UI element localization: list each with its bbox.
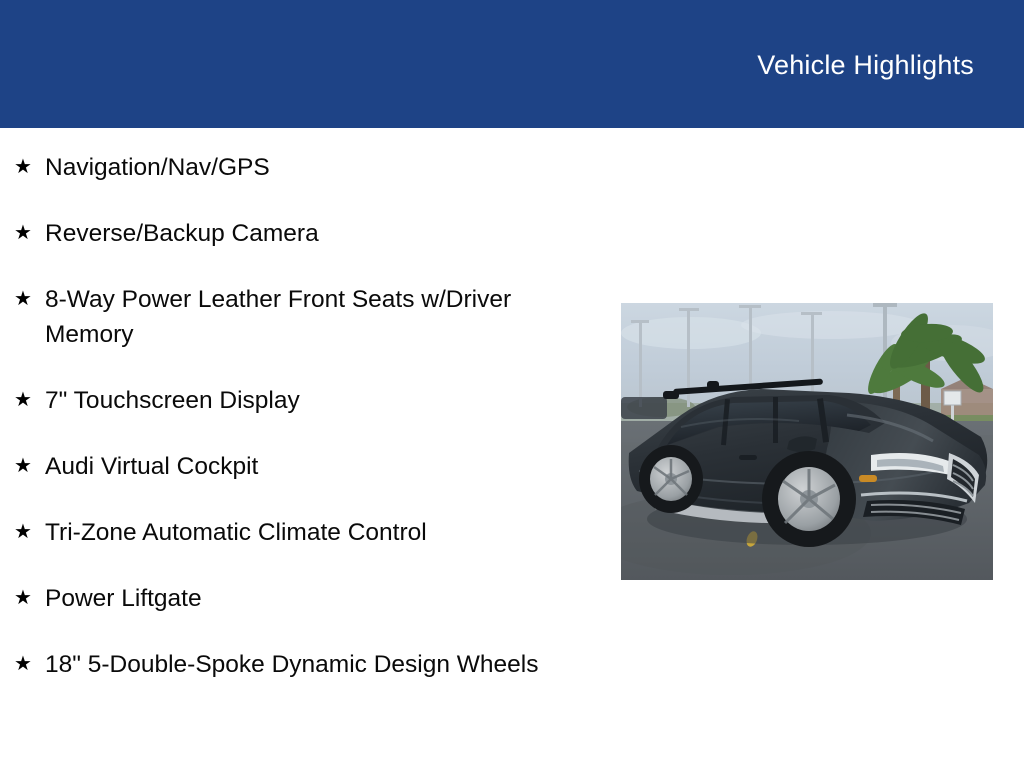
list-item-label: Audi Virtual Cockpit bbox=[45, 449, 545, 484]
page-title: Vehicle Highlights bbox=[757, 50, 974, 81]
list-item: ★ 18" 5-Double-Spoke Dynamic Design Whee… bbox=[0, 647, 600, 682]
vehicle-highlights-list: ★ Navigation/Nav/GPS ★ Reverse/Backup Ca… bbox=[0, 128, 600, 713]
star-bullet-icon: ★ bbox=[14, 647, 45, 681]
list-item-label: 7" Touchscreen Display bbox=[45, 383, 545, 418]
list-item: ★ Audi Virtual Cockpit bbox=[0, 449, 600, 484]
list-item-label: 18" 5-Double-Spoke Dynamic Design Wheels bbox=[45, 647, 545, 682]
star-bullet-icon: ★ bbox=[14, 282, 45, 316]
list-item-label: Navigation/Nav/GPS bbox=[45, 150, 545, 185]
list-item: ★ Tri-Zone Automatic Climate Control bbox=[0, 515, 600, 550]
star-bullet-icon: ★ bbox=[14, 581, 45, 615]
list-item: ★ 7" Touchscreen Display bbox=[0, 383, 600, 418]
list-item: ★ Reverse/Backup Camera bbox=[0, 216, 600, 251]
vehicle-photo bbox=[621, 303, 993, 580]
vehicle-photo-image bbox=[621, 303, 993, 580]
star-bullet-icon: ★ bbox=[14, 515, 45, 549]
star-bullet-icon: ★ bbox=[14, 216, 45, 250]
list-item-label: Tri-Zone Automatic Climate Control bbox=[45, 515, 545, 550]
list-item: ★ Navigation/Nav/GPS bbox=[0, 150, 600, 185]
list-item-label: Reverse/Backup Camera bbox=[45, 216, 545, 251]
list-item: ★ 8-Way Power Leather Front Seats w/Driv… bbox=[0, 282, 600, 352]
header-band: Vehicle Highlights bbox=[0, 0, 1024, 128]
list-item: ★ Power Liftgate bbox=[0, 581, 600, 616]
star-bullet-icon: ★ bbox=[14, 150, 45, 184]
list-item-label: 8-Way Power Leather Front Seats w/Driver… bbox=[45, 282, 545, 352]
list-item-label: Power Liftgate bbox=[45, 581, 545, 616]
star-bullet-icon: ★ bbox=[14, 383, 45, 417]
star-bullet-icon: ★ bbox=[14, 449, 45, 483]
